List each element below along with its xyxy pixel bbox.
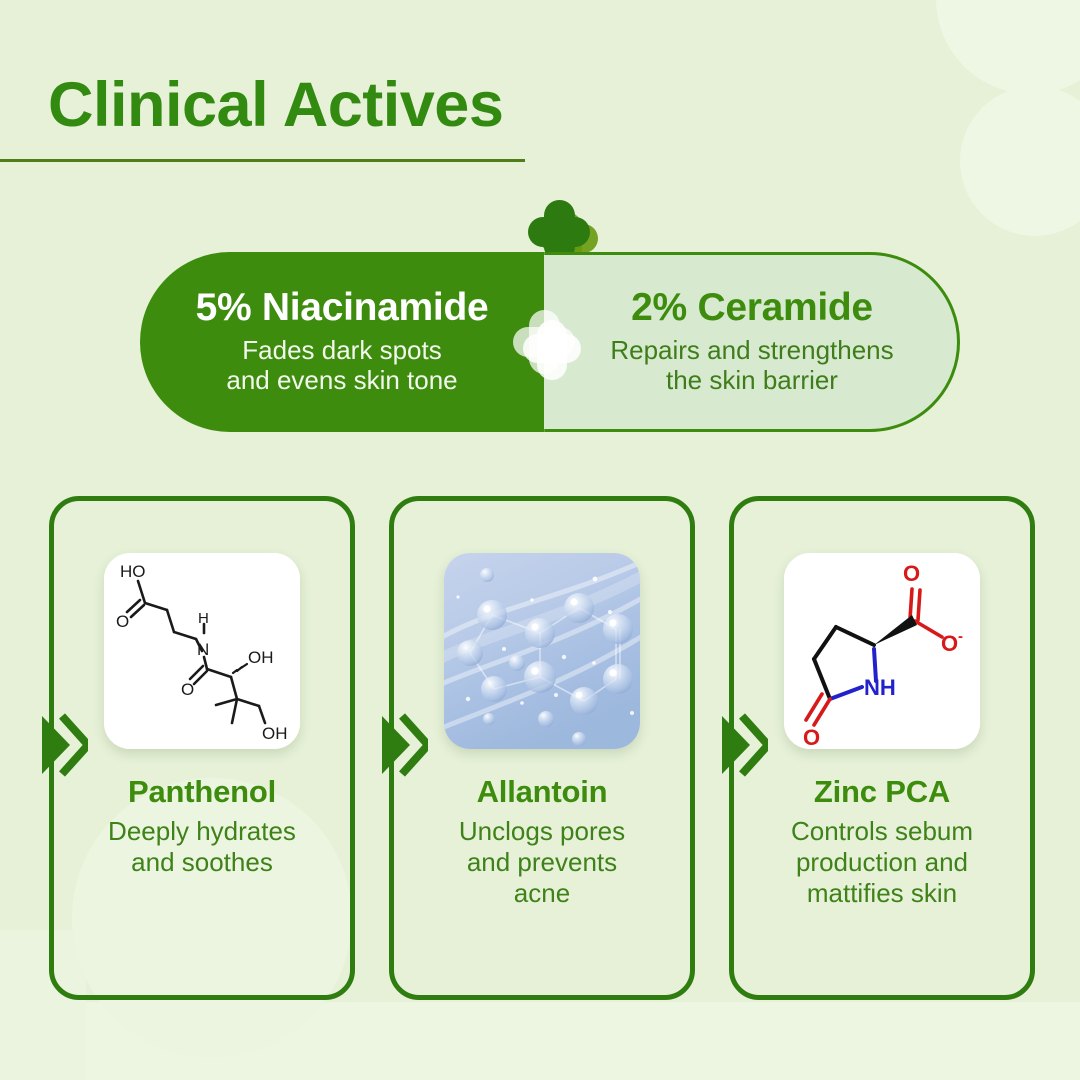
card-title-zinc-pca: Zinc PCA [814, 775, 950, 809]
banner-niacinamide-desc: Fades dark spots and evens skin tone [226, 335, 457, 396]
page-title: Clinical Actives [0, 74, 1080, 137]
banner-niacinamide-name: 5% Niacinamide [196, 288, 489, 329]
allantoin-water-molecule-image [444, 553, 640, 749]
svg-text:HO: HO [120, 562, 146, 581]
svg-text:H: H [198, 610, 209, 627]
card-desc-allantoin: Unclogs pores and prevents acne [459, 816, 625, 909]
banner-niacinamide-desc-line1: Fades dark spots [242, 335, 441, 365]
svg-text:O: O [903, 561, 920, 586]
svg-text:OH: OH [248, 648, 274, 667]
svg-text:O: O [181, 680, 194, 699]
ingredient-card-panthenol[interactable]: HO O N H O OH OH Panthenol Deeply hydrat… [49, 496, 355, 1000]
svg-text:O: O [116, 612, 129, 631]
zinc-pca-structure-image: O O O - NH [784, 553, 980, 749]
panthenol-structure-image: HO O N H O OH OH [104, 553, 300, 749]
banner-item-niacinamide: 5% Niacinamide Fades dark spots and even… [140, 252, 544, 432]
card-title-allantoin: Allantoin [477, 775, 608, 809]
ingredient-card-allantoin[interactable]: Allantoin Unclogs pores and prevents acn… [389, 496, 695, 1000]
banner-niacinamide-desc-line2: and evens skin tone [226, 365, 457, 395]
svg-text:O: O [941, 631, 958, 656]
banner-ceramide-desc-line1: Repairs and strengthens [610, 335, 893, 365]
banner-medical-cross-icon [513, 310, 575, 374]
svg-text:O: O [803, 725, 820, 749]
ingredient-card-list: HO O N H O OH OH Panthenol Deeply hydrat… [0, 496, 1080, 1004]
card-desc-zinc-pca: Controls sebum production and mattifies … [791, 816, 973, 909]
card-desc-panthenol: Deeply hydrates and soothes [108, 816, 296, 878]
banner-ceramide-desc: Repairs and strengthens the skin barrier [610, 335, 893, 396]
svg-text:OH: OH [262, 724, 288, 743]
svg-text:N: N [197, 640, 209, 659]
banner-item-ceramide: 2% Ceramide Repairs and strengthens the … [544, 252, 960, 432]
title-divider [0, 159, 525, 162]
banner-ceramide-desc-line2: the skin barrier [666, 365, 838, 395]
banner-ceramide-name: 2% Ceramide [631, 288, 873, 329]
svg-text:-: - [958, 628, 963, 645]
infographic-poster: Clinical Actives 5% Niacinamide Fades da… [0, 0, 1080, 1080]
card-title-panthenol: Panthenol [128, 775, 276, 809]
page-header: Clinical Actives [0, 74, 1080, 137]
svg-text:NH: NH [864, 675, 896, 700]
ingredient-card-zinc-pca[interactable]: O O O - NH Zinc PCA Controls sebum produ… [729, 496, 1035, 1000]
